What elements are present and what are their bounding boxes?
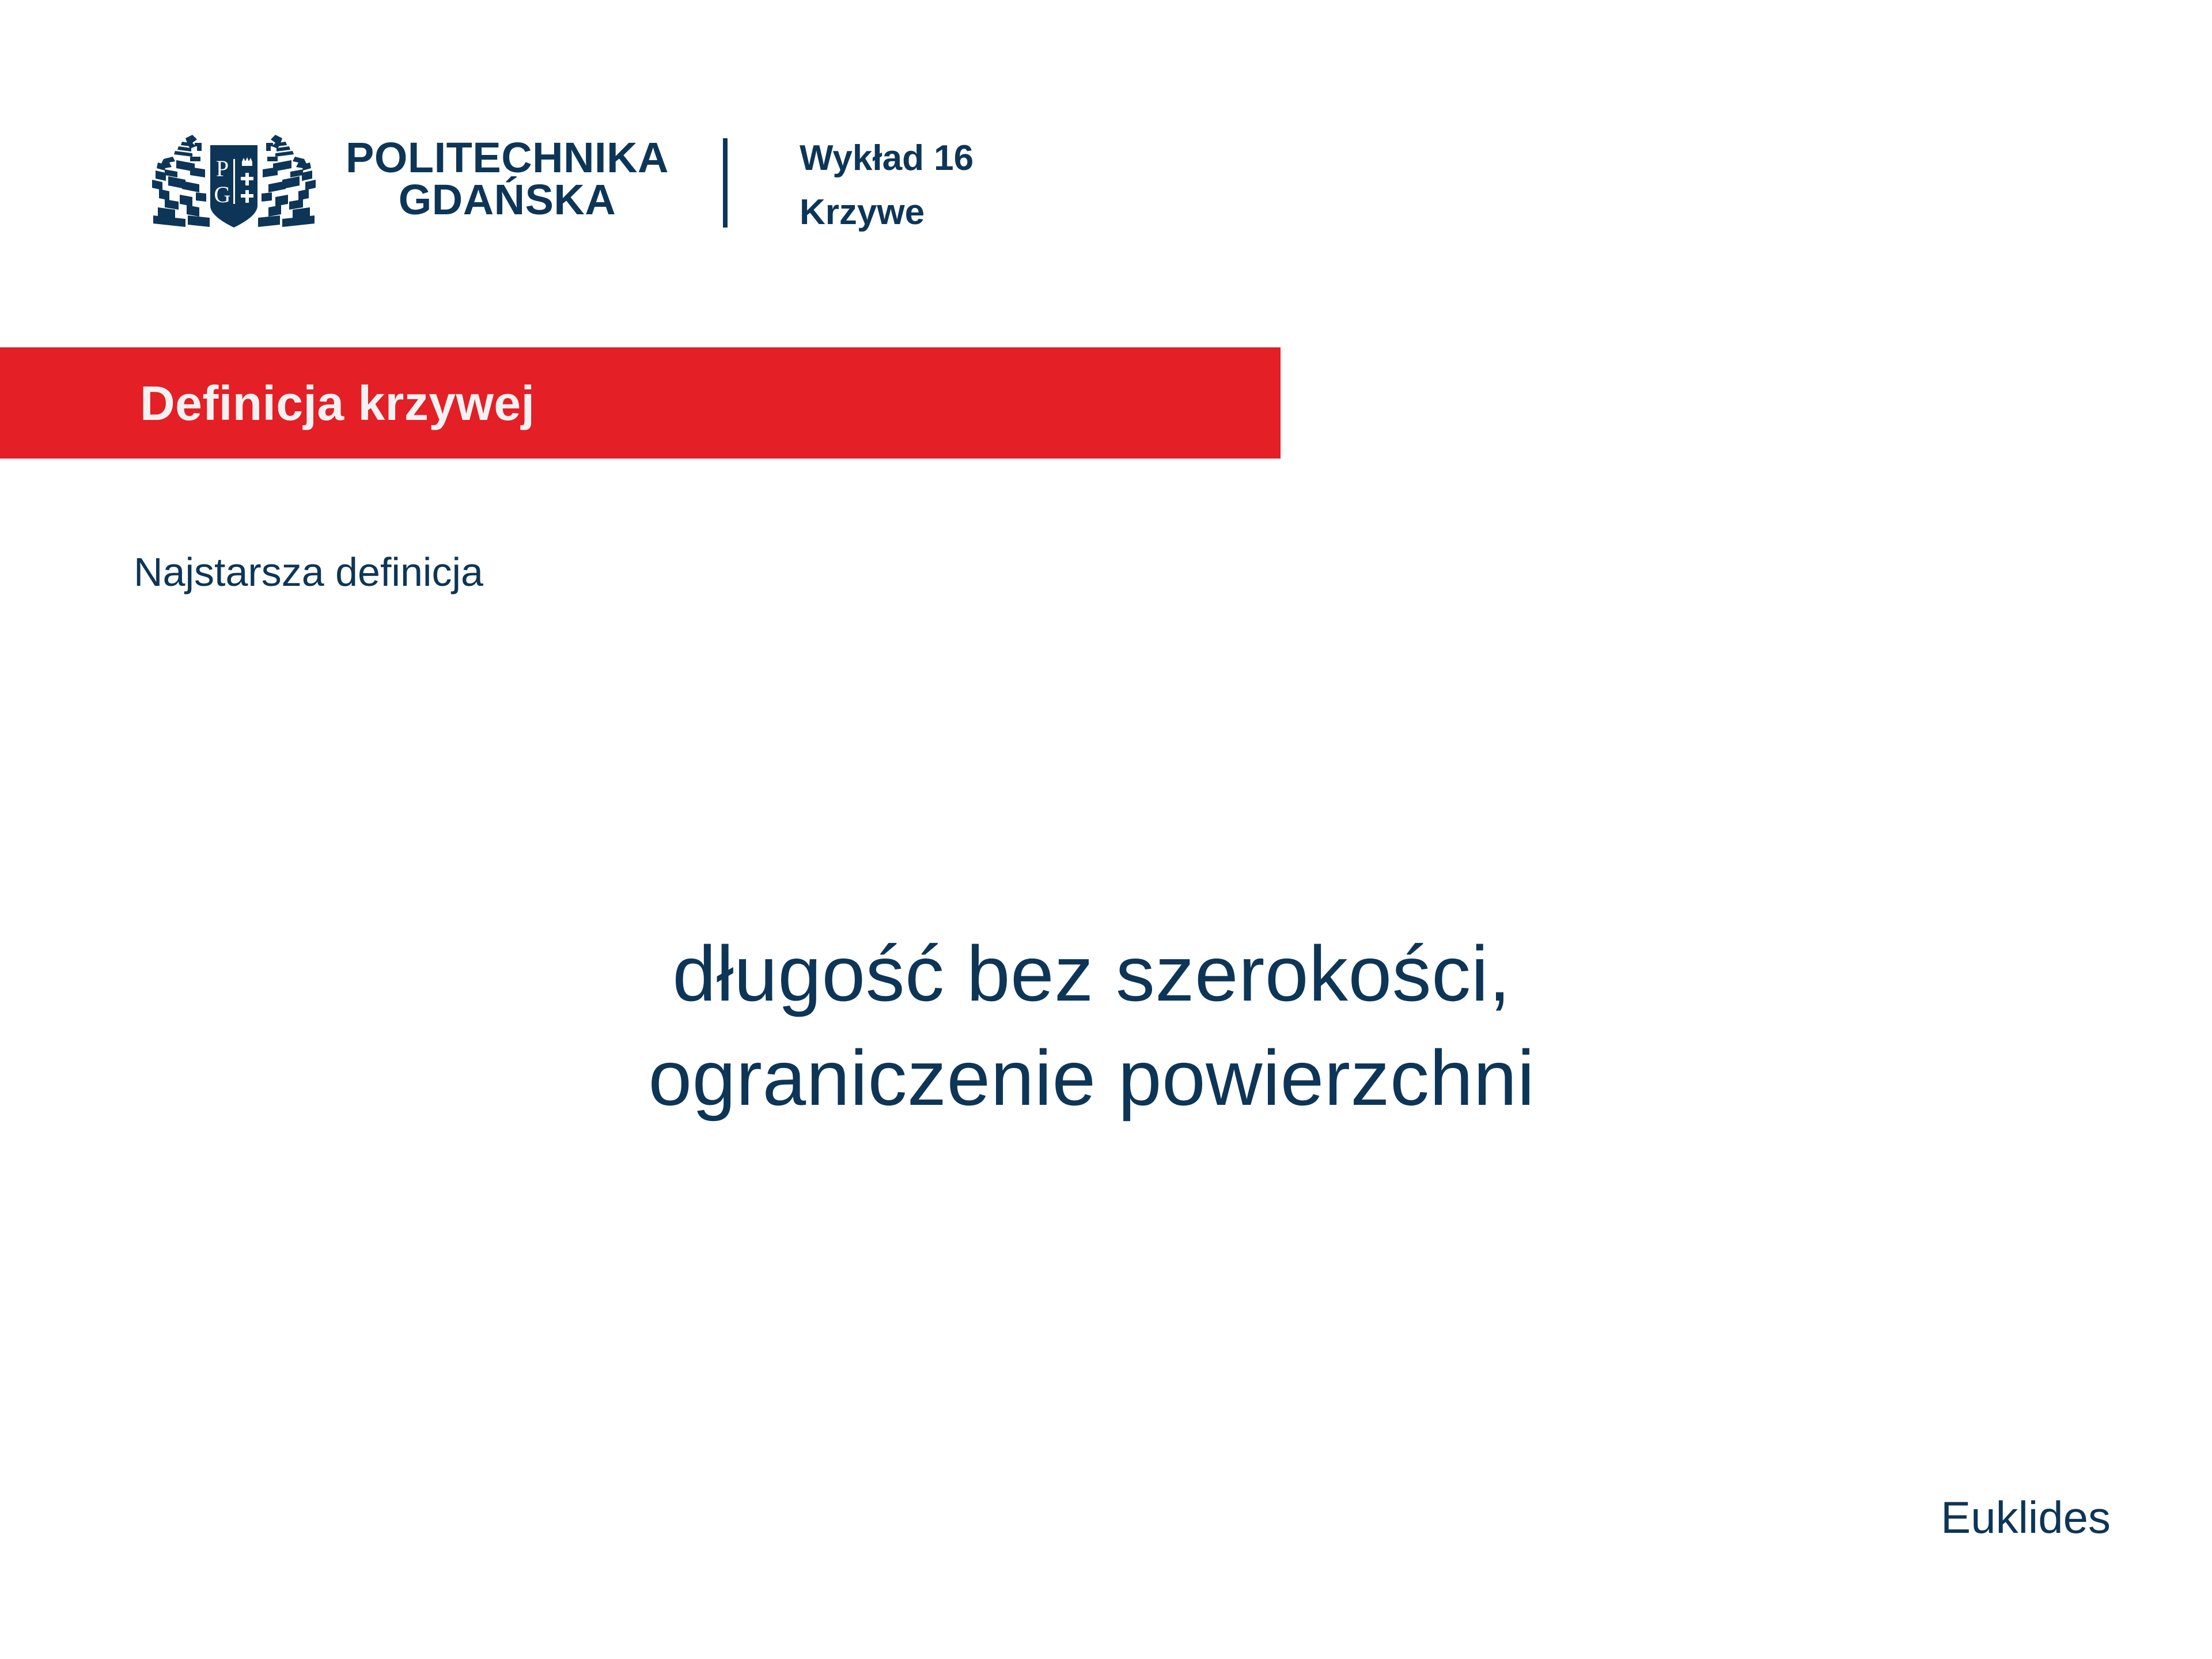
quote-attribution: Euklides — [1941, 1493, 2111, 1543]
university-brand: P G POLITECHNIKA GDAŃSKA — [132, 126, 669, 233]
brand-line-1: POLITECHNIKA — [346, 137, 669, 179]
vertical-divider-icon — [723, 138, 728, 228]
svg-text:G: G — [214, 181, 231, 207]
svg-text:P: P — [216, 156, 229, 181]
section-title: Definicja krzywej — [140, 379, 535, 427]
lecture-topic: Krzywe — [800, 185, 974, 240]
slide-header: P G POLITECHNIKA GDAŃSKA Wy — [0, 0, 2212, 300]
pg-crest-icon: P G — [132, 126, 335, 233]
brand-line-2: GDAŃSKA — [346, 179, 669, 221]
subheading: Najstarsza definicja — [134, 550, 483, 594]
lecture-label: Wykład 16 Krzywe — [800, 131, 974, 240]
quote-line-2: ograniczenie powierzchni — [0, 1026, 2183, 1130]
definition-quote: długość bez szerokości, ograniczenie pow… — [0, 922, 2183, 1130]
slide: P G POLITECHNIKA GDAŃSKA Wy — [0, 0, 2212, 1659]
brand-name: POLITECHNIKA GDAŃSKA — [346, 137, 669, 221]
section-title-banner: Definicja krzywej — [0, 347, 1281, 459]
lecture-number: Wykład 16 — [800, 131, 974, 185]
quote-line-1: długość bez szerokości, — [0, 922, 2183, 1026]
